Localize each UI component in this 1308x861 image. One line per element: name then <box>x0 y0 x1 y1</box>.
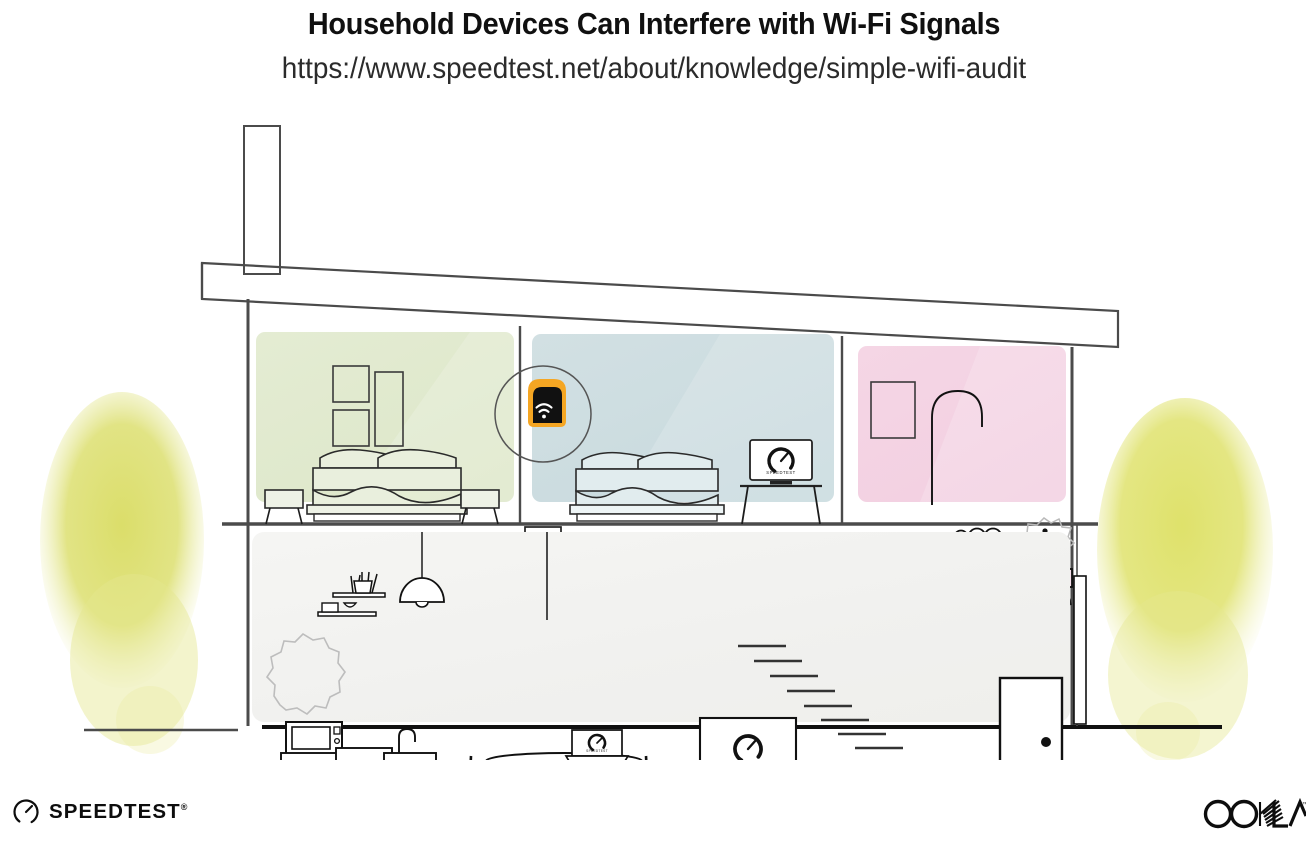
foliage-right <box>1097 398 1273 760</box>
footer: SPEEDTEST® ™ <box>0 780 1308 861</box>
front-door[interactable] <box>1000 678 1062 760</box>
living-room-tv: SPEEDTEST <box>700 718 796 760</box>
source-url: https://www.speedtest.net/about/knowledg… <box>46 52 1262 86</box>
ookla-wordmark: ™ <box>1202 796 1306 832</box>
nightstand-right-green <box>461 490 499 524</box>
speedtest-gauge-icon <box>12 798 40 826</box>
nightstand-left-green <box>265 490 303 524</box>
infographic-page: Household Devices Can Interfere with Wi-… <box>0 0 1308 861</box>
microwave <box>286 722 342 754</box>
laptop: SPEEDTEST <box>566 730 628 760</box>
speedtest-wordmark: SPEEDTEST® <box>49 800 187 824</box>
speedtest-trademark: ® <box>181 802 188 812</box>
tall-window <box>1074 524 1086 726</box>
door-knob-icon[interactable] <box>1041 737 1051 747</box>
monitor-screen-label: SPEEDTEST <box>766 470 795 475</box>
speedtest-logo[interactable]: SPEEDTEST® <box>12 798 187 826</box>
room-bedroom-green <box>256 332 514 524</box>
laptop-screen-label: SPEEDTEST <box>586 749 608 753</box>
ookla-logo[interactable]: ™ <box>1202 796 1306 832</box>
bed-blue <box>570 453 724 521</box>
house-cutaway-illustration: SPEEDTEST <box>0 100 1308 760</box>
foliage-left <box>40 392 204 754</box>
page-title: Household Devices Can Interfere with Wi-… <box>46 6 1262 42</box>
ookla-trademark: ™ <box>1302 801 1306 808</box>
chimney <box>244 126 280 274</box>
bed-green <box>307 450 467 521</box>
faucet-icon <box>399 729 415 753</box>
wifi-router-marker[interactable] <box>528 379 566 427</box>
